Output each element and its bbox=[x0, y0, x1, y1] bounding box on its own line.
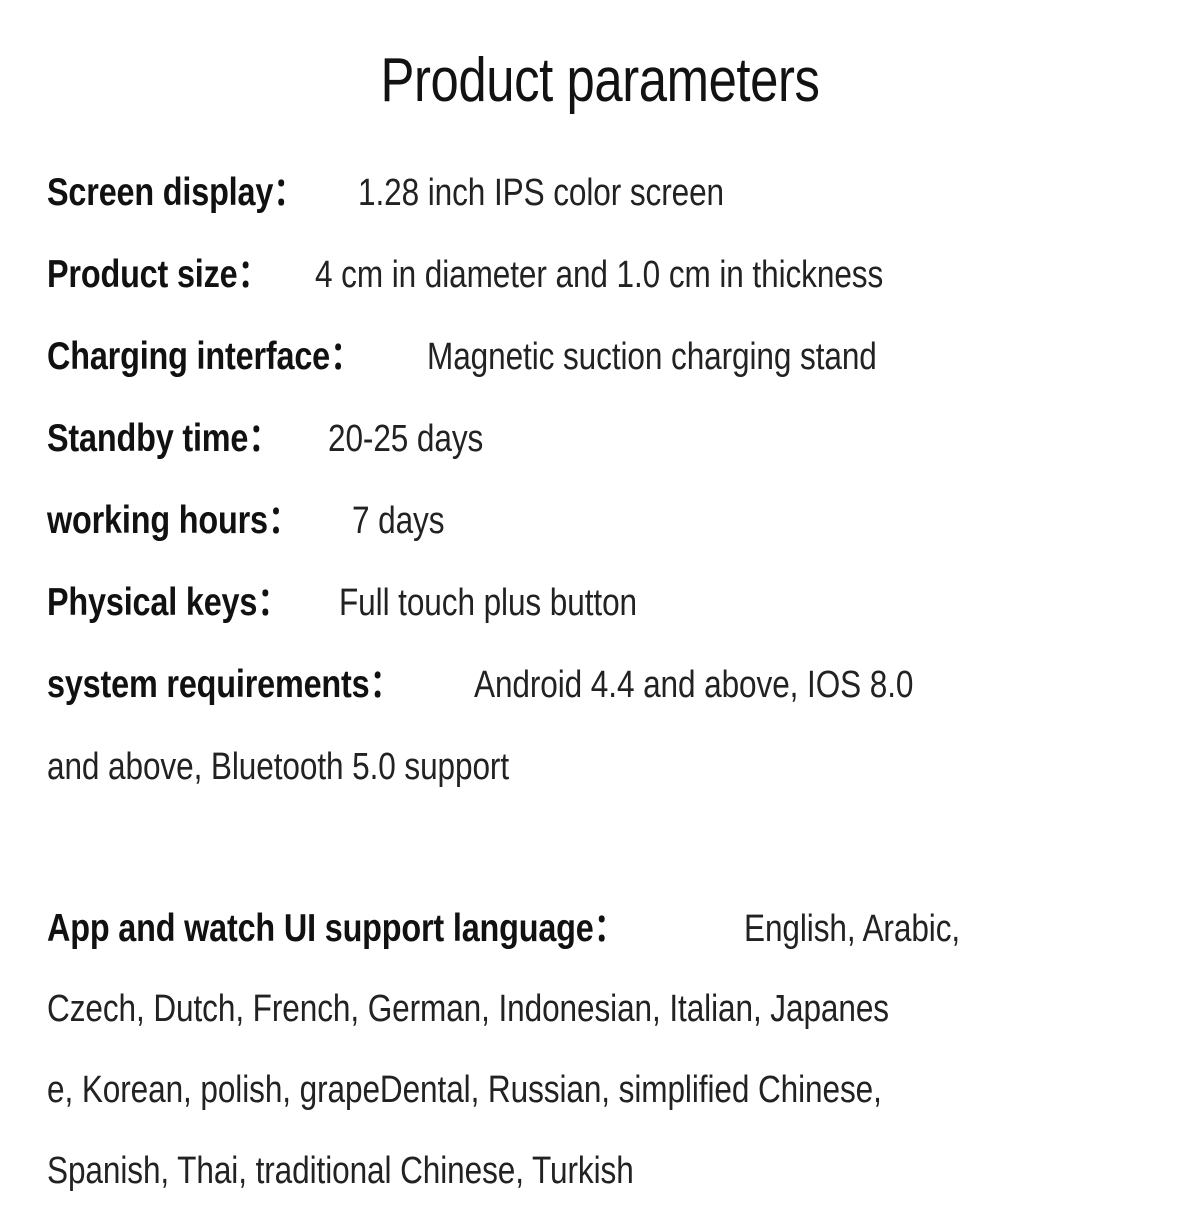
language-support-block: App and watch UI support language： Engli… bbox=[47, 888, 1187, 1212]
spec-value-system-requirements-continued: and above, Bluetooth 5.0 support bbox=[47, 726, 509, 808]
page-title: Product parameters bbox=[108, 42, 1092, 120]
spec-row-product-size: Product size： 4 cm in diameter and 1.0 c… bbox=[47, 234, 1177, 316]
spec-value-working-hours: 7 days bbox=[352, 480, 444, 562]
spec-value-standby-time: 20-25 days bbox=[328, 398, 483, 480]
language-support-value-line-3: e, Korean, polish, grapeDental, Russian,… bbox=[47, 1050, 882, 1131]
spec-value-product-size: 4 cm in diameter and 1.0 cm in thickness bbox=[315, 234, 883, 316]
spec-value-physical-keys: Full touch plus button bbox=[339, 562, 637, 644]
language-support-row-2: Czech, Dutch, French, German, Indonesian… bbox=[47, 969, 1187, 1050]
spec-label-working-hours: working hours： bbox=[47, 480, 300, 562]
spec-value-screen-display: 1.28 inch IPS color screen bbox=[358, 152, 724, 234]
language-support-value-line-1: English, Arabic, bbox=[744, 889, 960, 970]
spec-label-screen-display: Screen display： bbox=[47, 152, 305, 234]
language-support-label: App and watch UI support language： bbox=[47, 888, 626, 969]
spec-row-system-requirements-continued: and above, Bluetooth 5.0 support bbox=[47, 726, 1177, 808]
spec-value-system-requirements: Android 4.4 and above, IOS 8.0 bbox=[474, 644, 913, 726]
language-support-value-line-2: Czech, Dutch, French, German, Indonesian… bbox=[47, 969, 889, 1050]
language-support-row-3: e, Korean, polish, grapeDental, Russian,… bbox=[47, 1050, 1187, 1131]
spec-value-charging-interface: Magnetic suction charging stand bbox=[427, 316, 877, 398]
spec-label-physical-keys: Physical keys： bbox=[47, 562, 289, 644]
product-parameters-page: Product parameters Screen display： 1.28 … bbox=[0, 0, 1200, 1200]
language-support-row-1: App and watch UI support language： Engli… bbox=[47, 888, 1187, 969]
spec-row-standby-time: Standby time： 20-25 days bbox=[47, 398, 1177, 480]
spec-label-system-requirements: system requirements： bbox=[47, 644, 402, 726]
spec-label-standby-time: Standby time： bbox=[47, 398, 280, 480]
spec-row-charging-interface: Charging interface： Magnetic suction cha… bbox=[47, 316, 1177, 398]
spec-row-working-hours: working hours： 7 days bbox=[47, 480, 1177, 562]
specification-list: Screen display： 1.28 inch IPS color scre… bbox=[47, 152, 1177, 808]
spec-row-physical-keys: Physical keys： Full touch plus button bbox=[47, 562, 1177, 644]
spec-label-charging-interface: Charging interface： bbox=[47, 316, 362, 398]
spec-label-product-size: Product size： bbox=[47, 234, 270, 316]
spec-row-system-requirements: system requirements： Android 4.4 and abo… bbox=[47, 644, 1177, 726]
spec-row-screen-display: Screen display： 1.28 inch IPS color scre… bbox=[47, 152, 1177, 234]
